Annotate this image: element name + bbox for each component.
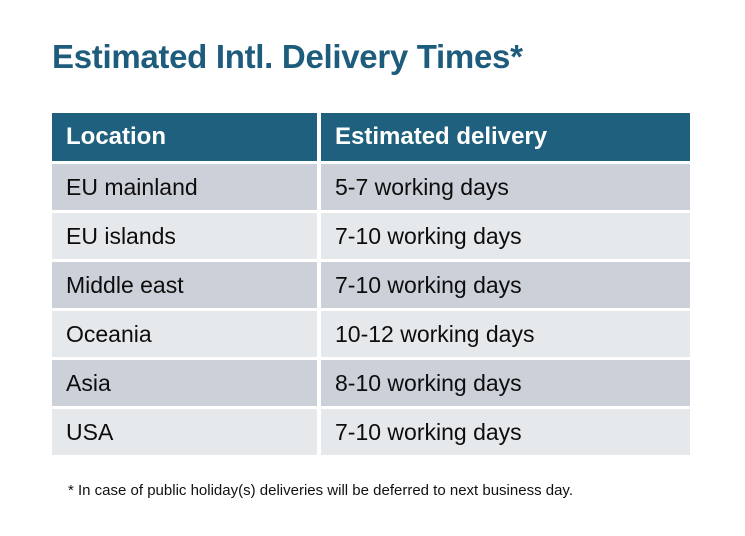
table-row: USA 7-10 working days (52, 409, 690, 455)
cell-delivery: 7-10 working days (321, 262, 690, 308)
cell-location: Middle east (52, 262, 317, 308)
delivery-times-page: Estimated Intl. Delivery Times* Location… (0, 0, 745, 536)
cell-delivery: 7-10 working days (321, 213, 690, 259)
cell-location: Oceania (52, 311, 317, 357)
table-row: Asia 8-10 working days (52, 360, 690, 406)
table-row: Middle east 7-10 working days (52, 262, 690, 308)
cell-location: EU islands (52, 213, 317, 259)
cell-delivery: 7-10 working days (321, 409, 690, 455)
cell-location: Asia (52, 360, 317, 406)
column-header-location: Location (52, 113, 317, 161)
footnote-text: * In case of public holiday(s) deliverie… (68, 481, 573, 501)
table-header-row: Location Estimated delivery (52, 113, 690, 161)
page-title: Estimated Intl. Delivery Times* (52, 36, 523, 78)
cell-delivery: 10-12 working days (321, 311, 690, 357)
cell-location: EU mainland (52, 164, 317, 210)
table-row: EU mainland 5-7 working days (52, 164, 690, 210)
cell-location: USA (52, 409, 317, 455)
cell-delivery: 5-7 working days (321, 164, 690, 210)
cell-delivery: 8-10 working days (321, 360, 690, 406)
estimated-delivery-table: Location Estimated delivery EU mainland … (52, 113, 690, 455)
table-row: EU islands 7-10 working days (52, 213, 690, 259)
table-row: Oceania 10-12 working days (52, 311, 690, 357)
column-header-estimated-delivery: Estimated delivery (321, 113, 690, 161)
